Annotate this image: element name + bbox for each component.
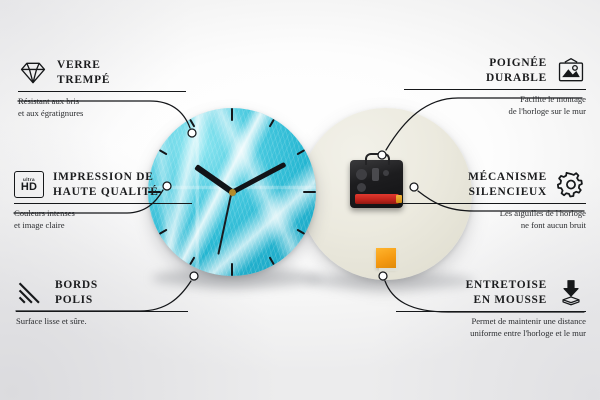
feature-divider	[18, 91, 186, 92]
feature-poignee-durable: POIGNÉE DURABLE Facilite le montage de l…	[404, 56, 586, 117]
infographic-canvas: VERRE TREMPÉ Résistant aux bris et aux é…	[0, 0, 600, 400]
feature-title: ENTRETOISE EN MOUSSE	[466, 278, 547, 307]
diamond-icon	[18, 59, 48, 87]
connector-dot-poignee	[378, 151, 386, 159]
feature-title: IMPRESSION DE HAUTE QUALITÉ	[53, 170, 159, 199]
picture-hanger-icon	[556, 57, 586, 85]
feature-description: Les aiguilles de l'horloge ne font aucun…	[400, 208, 586, 231]
feature-entretoise-en-mousse: ENTRETOISE EN MOUSSE Permet de maintenir…	[396, 278, 586, 339]
feature-header: BORDS POLIS	[16, 278, 188, 307]
feature-title: BORDS POLIS	[55, 278, 98, 307]
connector-dot-verre-trempe	[188, 129, 196, 137]
gear-icon	[556, 171, 586, 199]
feature-header: POIGNÉE DURABLE	[404, 56, 586, 85]
connector-dot-entretoise	[379, 272, 387, 280]
feature-verre-trempe: VERRE TREMPÉ Résistant aux bris et aux é…	[18, 58, 186, 119]
feature-divider	[14, 203, 192, 204]
feature-header: VERRE TREMPÉ	[18, 58, 186, 87]
feature-description: Surface lisse et sûre.	[16, 316, 188, 327]
ultra-hd-icon-main-label: HD	[21, 182, 37, 193]
feature-bords-polis: BORDS POLIS Surface lisse et sûre.	[16, 278, 188, 328]
ultra-hd-icon: ultra HD	[14, 171, 44, 198]
feature-divider	[16, 311, 188, 312]
feature-mecanisme-silencieux: MÉCANISME SILENCIEUX Les aiguilles de l'…	[400, 170, 586, 231]
feature-divider	[400, 203, 586, 204]
feature-impression-haute-qualite: ultra HD IMPRESSION DE HAUTE QUALITÉ Cou…	[14, 170, 192, 231]
feature-description: Résistant aux bris et aux égratignures	[18, 96, 186, 119]
feature-divider	[396, 311, 586, 312]
feature-title: POIGNÉE DURABLE	[486, 56, 547, 85]
foam-spacer-arrow-icon	[556, 279, 586, 307]
connector-dot-bords-polis	[190, 272, 198, 280]
feature-title: MÉCANISME SILENCIEUX	[468, 170, 547, 199]
feature-description: Facilite le montage de l'horloge sur le …	[404, 94, 586, 117]
feature-title: VERRE TREMPÉ	[57, 58, 110, 87]
feature-divider	[404, 89, 586, 90]
feature-header: ENTRETOISE EN MOUSSE	[396, 278, 586, 307]
feature-description: Permet de maintenir une distance uniform…	[396, 316, 586, 339]
feature-header: MÉCANISME SILENCIEUX	[400, 170, 586, 199]
feature-description: Couleurs intenses et image claire	[14, 208, 192, 231]
feature-header: ultra HD IMPRESSION DE HAUTE QUALITÉ	[14, 170, 192, 199]
polished-edge-icon	[16, 279, 46, 307]
